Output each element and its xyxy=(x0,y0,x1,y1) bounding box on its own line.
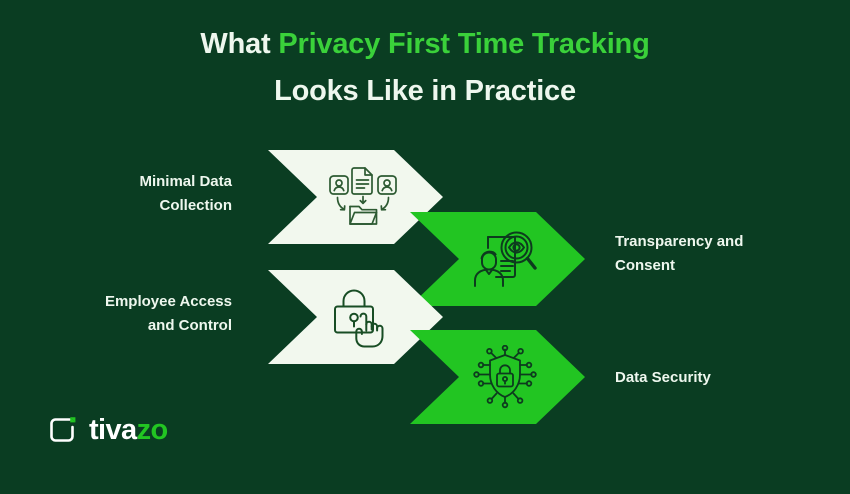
logo-wordmark: tivazo xyxy=(89,416,168,445)
label-line-1: Data Security xyxy=(615,366,825,390)
shield-lock-circuit-icon xyxy=(472,345,538,409)
title-line-2: Looks Like in Practice xyxy=(0,77,850,106)
chevron-data-security xyxy=(410,330,585,424)
label-transparency-and-consent: Transparency and Consent xyxy=(615,230,825,277)
person-magnifier-eye-icon xyxy=(471,227,539,291)
label-line-1: Transparency and xyxy=(615,230,825,254)
label-line-2: Collection xyxy=(32,194,232,218)
label-employee-access-and-control: Employee Access and Control xyxy=(32,290,232,337)
tivazo-logo: tivazo xyxy=(48,414,168,446)
title-prefix: What xyxy=(200,28,278,60)
infographic-canvas: What Privacy First Time Tracking Looks L… xyxy=(0,0,850,494)
logo-word-part2: zo xyxy=(137,414,168,446)
page-title: What Privacy First Time Tracking Looks L… xyxy=(0,30,850,106)
tivazo-bracket-icon xyxy=(48,414,78,446)
logo-word-part1: tiva xyxy=(89,414,137,446)
documents-to-folder-icon xyxy=(327,165,399,229)
label-data-security: Data Security xyxy=(615,366,825,390)
chevron-minimal-data-collection xyxy=(268,150,443,244)
label-line-2: and Control xyxy=(32,314,232,338)
title-line-1: What Privacy First Time Tracking xyxy=(0,30,850,59)
chevron-employee-access-and-control xyxy=(268,270,443,364)
label-minimal-data-collection: Minimal Data Collection xyxy=(32,170,232,217)
label-line-1: Employee Access xyxy=(32,290,232,314)
label-line-1: Minimal Data xyxy=(32,170,232,194)
chevron-transparency-and-consent xyxy=(410,212,585,306)
padlock-hand-icon xyxy=(330,286,396,348)
label-line-2: Consent xyxy=(615,254,825,278)
title-accent: Privacy First Time Tracking xyxy=(278,28,649,60)
